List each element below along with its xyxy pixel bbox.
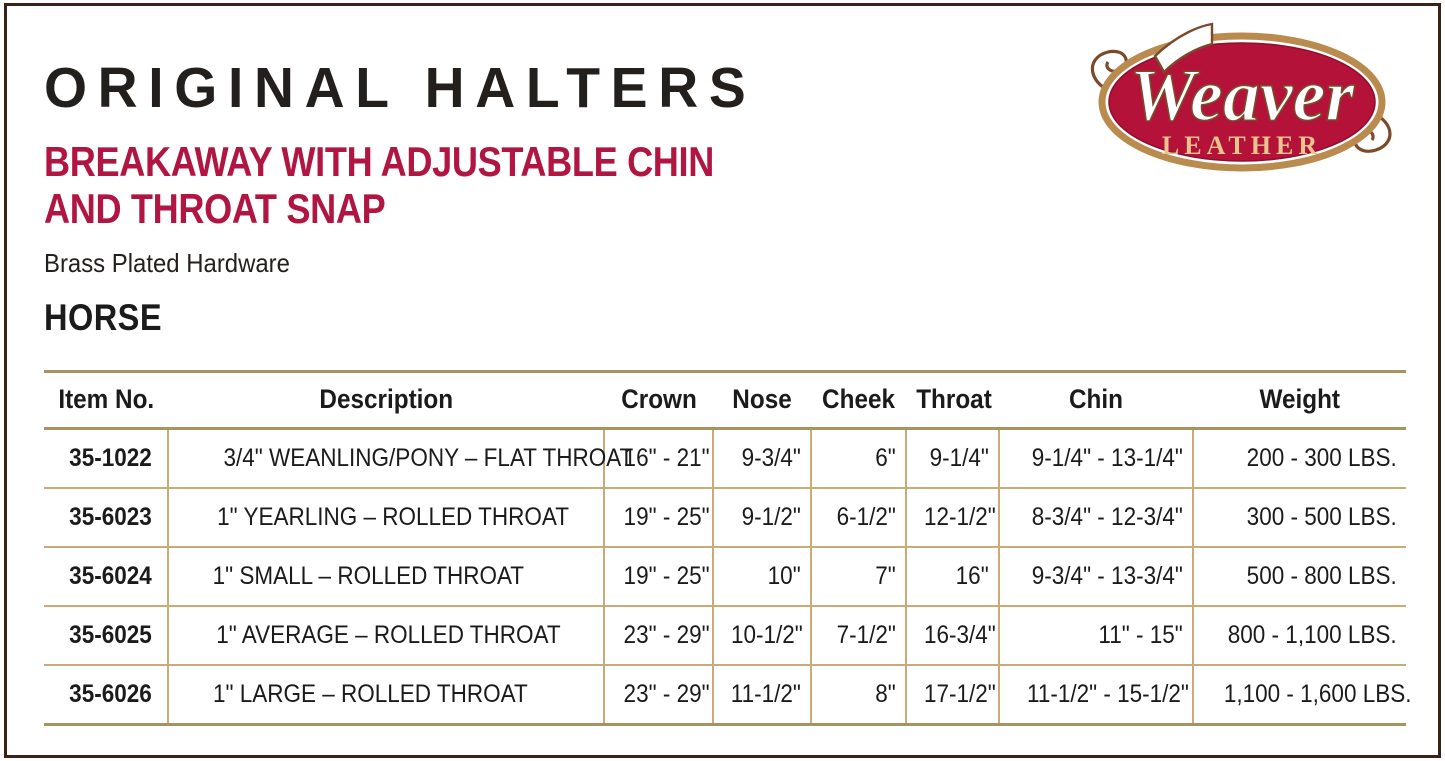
- col-header-item-no: Item No.: [44, 372, 168, 429]
- cell-throat-value: 17-1/2": [924, 680, 996, 709]
- page-title: ORIGINAL HALTERS: [44, 58, 1014, 118]
- cell-item-no: 35-1022: [44, 429, 168, 489]
- cell-throat-value: 12-1/2": [924, 503, 996, 532]
- cell-chin-value: 9-3/4" - 13-3/4": [1032, 562, 1183, 591]
- col-header-cheek-label: Cheek: [822, 384, 895, 415]
- cell-throat: 17-1/2": [906, 665, 999, 725]
- table-row: 35-6024 1" SMALL – ROLLED THROAT 19" - 2…: [44, 547, 1406, 606]
- col-header-weight: Weight: [1193, 372, 1406, 429]
- cell-crown-value: 23" - 29": [624, 680, 710, 709]
- cell-chin-value: 11" - 15": [1099, 621, 1183, 650]
- table-body: 35-1022 3/4" WEANLING/PONY – FLAT THROAT…: [44, 429, 1406, 725]
- cell-cheek: 6": [811, 429, 906, 489]
- page-subtitle: BREAKAWAY WITH ADJUSTABLE CHIN AND THROA…: [44, 138, 1033, 232]
- cell-crown: 23" - 29": [604, 606, 713, 665]
- table-row: 35-6026 1" LARGE – ROLLED THROAT 23" - 2…: [44, 665, 1406, 725]
- cell-chin: 9-1/4" - 13-1/4": [999, 429, 1193, 489]
- cell-cheek-value: 6-1/2": [837, 503, 896, 532]
- cell-description-value: 1" LARGE – ROLLED THROAT: [213, 680, 528, 709]
- cell-item-no-value: 35-6025: [69, 621, 152, 650]
- col-header-description: Description: [168, 372, 604, 429]
- col-header-crown: Crown: [604, 372, 713, 429]
- cell-cheek: 8": [811, 665, 906, 725]
- cell-crown: 23" - 29": [604, 665, 713, 725]
- cell-description-value: 3/4" WEANLING/PONY – FLAT THROAT: [224, 444, 634, 473]
- page-subtitle-line2: AND THROAT SNAP: [44, 185, 1033, 232]
- cell-weight-value: 1,100 - 1,600 LBS.: [1224, 680, 1412, 709]
- cell-description-value: 1" YEARLING – ROLLED THROAT: [217, 503, 569, 532]
- cell-cheek: 7": [811, 547, 906, 606]
- cell-cheek: 6-1/2": [811, 488, 906, 547]
- cell-nose: 10-1/2": [713, 606, 811, 665]
- cell-description: 1" AVERAGE – ROLLED THROAT: [168, 606, 604, 665]
- col-header-weight-label: Weight: [1259, 384, 1340, 415]
- cell-item-no-value: 35-1022: [69, 444, 152, 473]
- cell-description-value: 1" AVERAGE – ROLLED THROAT: [216, 621, 560, 650]
- cell-weight: 500 - 800 LBS.: [1193, 547, 1406, 606]
- cell-item-no-value: 35-6024: [69, 562, 152, 591]
- cell-throat: 16-3/4": [906, 606, 999, 665]
- cell-nose-value: 9-3/4": [742, 444, 801, 473]
- cell-description: 1" LARGE – ROLLED THROAT: [168, 665, 604, 725]
- cell-weight: 800 - 1,100 LBS.: [1193, 606, 1406, 665]
- cell-throat: 9-1/4": [906, 429, 999, 489]
- cell-description: 1" SMALL – ROLLED THROAT: [168, 547, 604, 606]
- cell-nose: 10": [713, 547, 811, 606]
- cell-throat-value: 16": [956, 562, 989, 591]
- col-header-crown-label: Crown: [621, 384, 697, 415]
- cell-item-no: 35-6023: [44, 488, 168, 547]
- cell-weight: 200 - 300 LBS.: [1193, 429, 1406, 489]
- cell-cheek-value: 8": [875, 680, 896, 709]
- col-header-throat-label: Throat: [916, 384, 992, 415]
- cell-cheek-value: 7-1/2": [837, 621, 896, 650]
- weaver-leather-logo: Weaver LEATHER: [1060, 18, 1420, 183]
- cell-chin-value: 11-1/2" - 15-1/2": [1027, 680, 1189, 709]
- cell-chin: 11-1/2" - 15-1/2": [999, 665, 1193, 725]
- col-header-chin: Chin: [999, 372, 1193, 429]
- cell-weight-value: 200 - 300 LBS.: [1247, 444, 1397, 473]
- cell-item-no: 35-6024: [44, 547, 168, 606]
- cell-nose: 9-3/4": [713, 429, 811, 489]
- cell-weight-value: 300 - 500 LBS.: [1247, 503, 1397, 532]
- col-header-cheek: Cheek: [811, 372, 906, 429]
- cell-nose: 9-1/2": [713, 488, 811, 547]
- table-row: 35-1022 3/4" WEANLING/PONY – FLAT THROAT…: [44, 429, 1406, 489]
- section-label-horse: HORSE: [44, 298, 924, 338]
- cell-nose-value: 10-1/2": [731, 621, 803, 650]
- cell-item-no: 35-6026: [44, 665, 168, 725]
- hardware-note: Brass Plated Hardware: [44, 248, 964, 278]
- cell-throat: 16": [906, 547, 999, 606]
- cell-throat-value: 9-1/4": [930, 444, 989, 473]
- cell-cheek-value: 6": [875, 444, 896, 473]
- cell-chin: 11" - 15": [999, 606, 1193, 665]
- logo-leather-text: LEATHER: [1162, 131, 1322, 160]
- cell-nose-value: 9-1/2": [742, 503, 801, 532]
- cell-nose-value: 10": [768, 562, 801, 591]
- cell-item-no-value: 35-6023: [69, 503, 152, 532]
- cell-crown: 19" - 25": [604, 547, 713, 606]
- cell-throat: 12-1/2": [906, 488, 999, 547]
- col-header-throat: Throat: [906, 372, 999, 429]
- col-header-description-label: Description: [319, 384, 453, 415]
- cell-weight-value: 500 - 800 LBS.: [1247, 562, 1397, 591]
- cell-weight: 1,100 - 1,600 LBS.: [1193, 665, 1406, 725]
- halter-spec-table: Item No. Description Crown Nose Cheek Th…: [44, 370, 1406, 726]
- cell-nose-value: 11-1/2": [731, 680, 801, 709]
- catalog-page: ORIGINAL HALTERS BREAKAWAY WITH ADJUSTAB…: [0, 0, 1445, 761]
- col-header-chin-label: Chin: [1069, 384, 1123, 415]
- table-header-row: Item No. Description Crown Nose Cheek Th…: [44, 372, 1406, 429]
- cell-crown: 19" - 25": [604, 488, 713, 547]
- cell-crown-value: 23" - 29": [624, 621, 710, 650]
- table-row: 35-6023 1" YEARLING – ROLLED THROAT 19" …: [44, 488, 1406, 547]
- cell-crown-value: 19" - 25": [624, 562, 710, 591]
- cell-cheek-value: 7": [875, 562, 896, 591]
- header-block: ORIGINAL HALTERS BREAKAWAY WITH ADJUSTAB…: [44, 58, 1044, 338]
- col-header-item-no-label: Item No.: [58, 384, 154, 415]
- col-header-nose: Nose: [713, 372, 811, 429]
- cell-chin-value: 8-3/4" - 12-3/4": [1032, 503, 1183, 532]
- cell-description: 3/4" WEANLING/PONY – FLAT THROAT: [168, 429, 604, 489]
- col-header-nose-label: Nose: [732, 384, 791, 415]
- cell-crown-value: 19" - 25": [624, 503, 710, 532]
- logo-weaver-text: Weaver: [1130, 55, 1356, 137]
- cell-description-value: 1" SMALL – ROLLED THROAT: [213, 562, 524, 591]
- cell-chin: 8-3/4" - 12-3/4": [999, 488, 1193, 547]
- cell-item-no-value: 35-6026: [69, 680, 152, 709]
- cell-weight-value: 800 - 1,100 LBS.: [1228, 621, 1397, 650]
- cell-chin: 9-3/4" - 13-3/4": [999, 547, 1193, 606]
- cell-item-no: 35-6025: [44, 606, 168, 665]
- cell-throat-value: 16-3/4": [924, 621, 996, 650]
- cell-cheek: 7-1/2": [811, 606, 906, 665]
- page-subtitle-line1: BREAKAWAY WITH ADJUSTABLE CHIN: [44, 138, 714, 185]
- table-row: 35-6025 1" AVERAGE – ROLLED THROAT 23" -…: [44, 606, 1406, 665]
- cell-description: 1" YEARLING – ROLLED THROAT: [168, 488, 604, 547]
- cell-crown-value: 16" - 21": [624, 444, 710, 473]
- cell-chin-value: 9-1/4" - 13-1/4": [1032, 444, 1183, 473]
- cell-nose: 11-1/2": [713, 665, 811, 725]
- cell-weight: 300 - 500 LBS.: [1193, 488, 1406, 547]
